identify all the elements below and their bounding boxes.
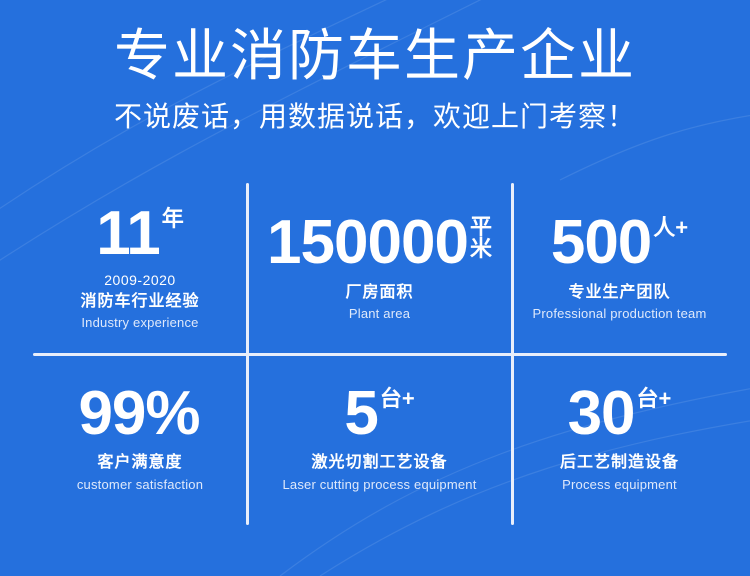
- stat-label-en: Process equipment: [562, 476, 677, 494]
- metric-number: 99%: [78, 385, 199, 444]
- stat-cell-customer-satisfaction: 99% 客户满意度 customer satisfaction: [33, 354, 247, 525]
- metric-number: 5: [344, 385, 377, 444]
- stat-label-cn: 专业生产团队: [568, 282, 670, 304]
- stat-label-en: Professional production team: [533, 305, 707, 323]
- grid-divider-vertical-right: [511, 183, 514, 525]
- page-subtitle: 不说废话，用数据说话，欢迎上门考察！: [0, 86, 750, 134]
- stats-row: 99% 客户满意度 customer satisfaction 5 台+ 激光切…: [33, 354, 727, 525]
- stat-label-cn: 厂房面积: [345, 282, 413, 304]
- stat-cell-laser-cutting-equipment: 5 台+ 激光切割工艺设备 Laser cutting process equi…: [247, 354, 512, 525]
- stat-label-cn: 后工艺制造设备: [560, 452, 679, 474]
- page-title: 专业消防车生产企业: [0, 0, 750, 86]
- metric-unit: 人+: [653, 216, 688, 239]
- metric: 150000 平 米: [267, 214, 492, 273]
- stat-label-en: Industry experience: [81, 314, 198, 332]
- metric: 11 年: [96, 205, 184, 264]
- stat-label-en: Plant area: [349, 305, 410, 323]
- stat-label-en: Laser cutting process equipment: [282, 476, 476, 494]
- stat-cell-plant-area: 150000 平 米 厂房面积 Plant area: [247, 183, 512, 354]
- metric-number: 150000: [267, 214, 468, 273]
- metric-unit: 平 米: [470, 216, 492, 260]
- metric: 30 台+: [568, 385, 672, 444]
- metric-unit-char: 平: [470, 216, 492, 238]
- metric-number: 30: [568, 385, 635, 444]
- metric: 5 台+: [344, 385, 414, 444]
- metric-unit-char: 米: [470, 238, 492, 260]
- stat-cell-production-team: 500 人+ 专业生产团队 Professional production te…: [512, 183, 727, 354]
- metric: 99%: [78, 385, 201, 444]
- stat-label-cn: 客户满意度: [97, 452, 182, 474]
- stat-label-cn: 消防车行业经验: [80, 291, 199, 313]
- metric-number: 11: [96, 205, 160, 264]
- stat-label-cn: 激光切割工艺设备: [311, 452, 447, 474]
- metric-unit: 台+: [637, 387, 672, 410]
- metric: 500 人+: [551, 214, 688, 273]
- stat-cell-process-equipment: 30 台+ 后工艺制造设备 Process equipment: [512, 354, 727, 525]
- stats-row: 11 年 2009-2020 消防车行业经验 Industry experien…: [33, 183, 727, 354]
- metric-number: 500: [551, 214, 651, 273]
- stat-cell-industry-experience: 11 年 2009-2020 消防车行业经验 Industry experien…: [33, 183, 247, 354]
- metric-range: 2009-2020: [104, 271, 175, 289]
- stat-label-en: customer satisfaction: [77, 476, 203, 494]
- promo-banner: 专业消防车生产企业 不说废话，用数据说话，欢迎上门考察！ 11 年 2009-2…: [0, 0, 750, 576]
- grid-divider-vertical-left: [246, 183, 249, 525]
- grid-divider-horizontal: [33, 353, 727, 356]
- banner-header: 专业消防车生产企业 不说废话，用数据说话，欢迎上门考察！: [0, 0, 750, 134]
- metric-unit: 年: [162, 207, 184, 230]
- metric-unit: 台+: [380, 387, 415, 410]
